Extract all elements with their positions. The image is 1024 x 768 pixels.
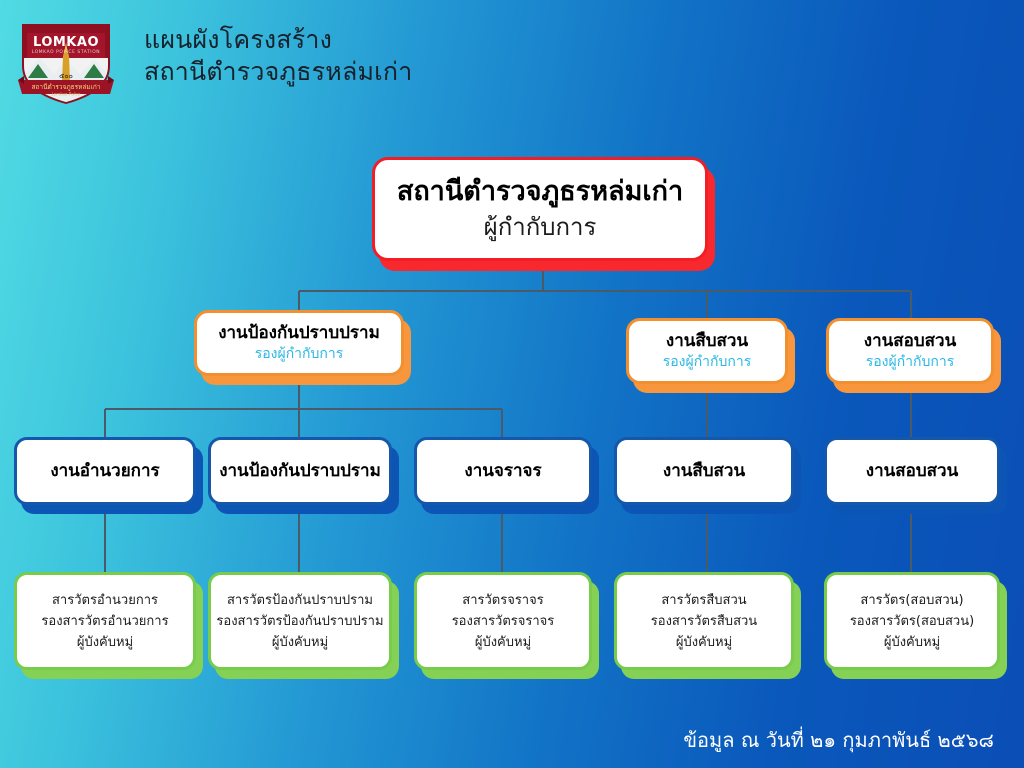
- data-as-of-note: ข้อมูล ณ วันที่ ๒๑ กุมภาพันธ์ ๒๕๖๘: [683, 727, 994, 753]
- svg-text:สถานีตำรวจภูธรหล่มเก่า: สถานีตำรวจภูธรหล่มเก่า: [32, 83, 101, 91]
- svg-text:LOMKAO POLICE STATION: LOMKAO POLICE STATION: [32, 49, 100, 55]
- node-l2-prevention-subtitle: รองผู้กำกับการ: [255, 345, 344, 364]
- node-l4-inquiry[interactable]: สารวัตร(สอบสวน) รองสารวัตร(สอบสวน) ผู้บั…: [824, 572, 1000, 670]
- node-l3-administration-title: งานอำนวยการ: [50, 460, 159, 482]
- node-l4-traffic-line1: สารวัตรจราจร: [462, 590, 543, 611]
- node-l3-traffic[interactable]: งานจราจร: [414, 437, 592, 505]
- node-root-title: สถานีตำรวจภูธรหล่มเก่า: [397, 175, 683, 209]
- node-l4-investigation-line1: สารวัตรสืบสวน: [661, 590, 746, 611]
- node-root-subtitle: ผู้กำกับการ: [484, 211, 597, 243]
- node-l2-investigation[interactable]: งานสืบสวน รองผู้กำกับการ: [626, 318, 788, 384]
- node-l2-inquiry-subtitle: รองผู้กำกับการ: [866, 353, 955, 372]
- page-title: แผนผังโครงสร้างสถานีตำรวจภูธรหล่มเก่า: [144, 24, 744, 88]
- node-l4-investigation-line3: ผู้บังคับหมู่: [676, 632, 732, 653]
- node-l4-traffic-line3: ผู้บังคับหมู่: [475, 632, 531, 653]
- node-l4-investigation[interactable]: สารวัตรสืบสวน รองสารวัตรสืบสวน ผู้บังคับ…: [614, 572, 794, 670]
- node-l2-prevention-title: งานป้องกันปราบปราม: [218, 322, 380, 344]
- node-l3-traffic-title: งานจราจร: [464, 460, 541, 482]
- node-l2-investigation-title: งานสืบสวน: [666, 330, 748, 352]
- node-root-station[interactable]: สถานีตำรวจภูธรหล่มเก่า ผู้กำกับการ: [372, 157, 708, 261]
- page-title-line1: แผนผังโครงสร้าง: [144, 25, 332, 54]
- node-l4-prevention[interactable]: สารวัตรป้องกันปราบปราม รองสารวัตรป้องกัน…: [208, 572, 392, 670]
- node-l2-investigation-subtitle: รองผู้กำกับการ: [663, 353, 752, 372]
- node-l3-inquiry-title: งานสอบสวน: [866, 460, 958, 482]
- node-l3-prevention-title: งานป้องกันปราบปราม: [219, 460, 381, 482]
- node-l3-inquiry[interactable]: งานสอบสวน: [824, 437, 1000, 505]
- node-l4-inquiry-line2: รองสารวัตร(สอบสวน): [850, 611, 974, 632]
- page-header: ๕๐๐ LOMKAO LOMKAO POLICE STATION สถานีตำ…: [0, 0, 1024, 118]
- node-l4-prevention-line3: ผู้บังคับหมู่: [272, 632, 328, 653]
- org-chart-canvas: ๕๐๐ LOMKAO LOMKAO POLICE STATION สถานีตำ…: [0, 0, 1024, 768]
- node-l4-administration-line3: ผู้บังคับหมู่: [77, 632, 133, 653]
- page-title-line2: สถานีตำรวจภูธรหล่มเก่า: [144, 57, 412, 86]
- node-l4-prevention-line2: รองสารวัตรป้องกันปราบปราม: [216, 611, 383, 632]
- svg-text:Lomkao Police: Lomkao Police: [52, 92, 81, 97]
- node-l4-traffic-line2: รองสารวัตรจราจร: [452, 611, 555, 632]
- node-l2-inquiry-title: งานสอบสวน: [864, 330, 956, 352]
- node-l4-administration-line1: สารวัตรอำนวยการ: [52, 590, 158, 611]
- node-l2-inquiry[interactable]: งานสอบสวน รองผู้กำกับการ: [826, 318, 994, 384]
- node-l4-administration-line2: รองสารวัตรอำนวยการ: [41, 611, 168, 632]
- node-l3-prevention[interactable]: งานป้องกันปราบปราม: [208, 437, 392, 505]
- node-l4-traffic[interactable]: สารวัตรจราจร รองสารวัตรจราจร ผู้บังคับหม…: [414, 572, 592, 670]
- node-l4-investigation-line2: รองสารวัตรสืบสวน: [651, 611, 757, 632]
- node-l3-investigation-title: งานสืบสวน: [663, 460, 745, 482]
- node-l4-inquiry-line3: ผู้บังคับหมู่: [884, 632, 940, 653]
- node-l4-inquiry-line1: สารวัตร(สอบสวน): [860, 590, 963, 611]
- node-l3-investigation[interactable]: งานสืบสวน: [614, 437, 794, 505]
- svg-text:LOMKAO: LOMKAO: [33, 35, 99, 50]
- node-l2-prevention[interactable]: งานป้องกันปราบปราม รองผู้กำกับการ: [194, 310, 404, 376]
- lomkao-police-station-badge-icon: ๕๐๐ LOMKAO LOMKAO POLICE STATION สถานีตำ…: [14, 16, 118, 106]
- node-l4-prevention-line1: สารวัตรป้องกันปราบปราม: [227, 590, 373, 611]
- node-l4-administration[interactable]: สารวัตรอำนวยการ รองสารวัตรอำนวยการ ผู้บั…: [14, 572, 196, 670]
- node-l3-administration[interactable]: งานอำนวยการ: [14, 437, 196, 505]
- svg-text:๕๐๐: ๕๐๐: [59, 72, 73, 80]
